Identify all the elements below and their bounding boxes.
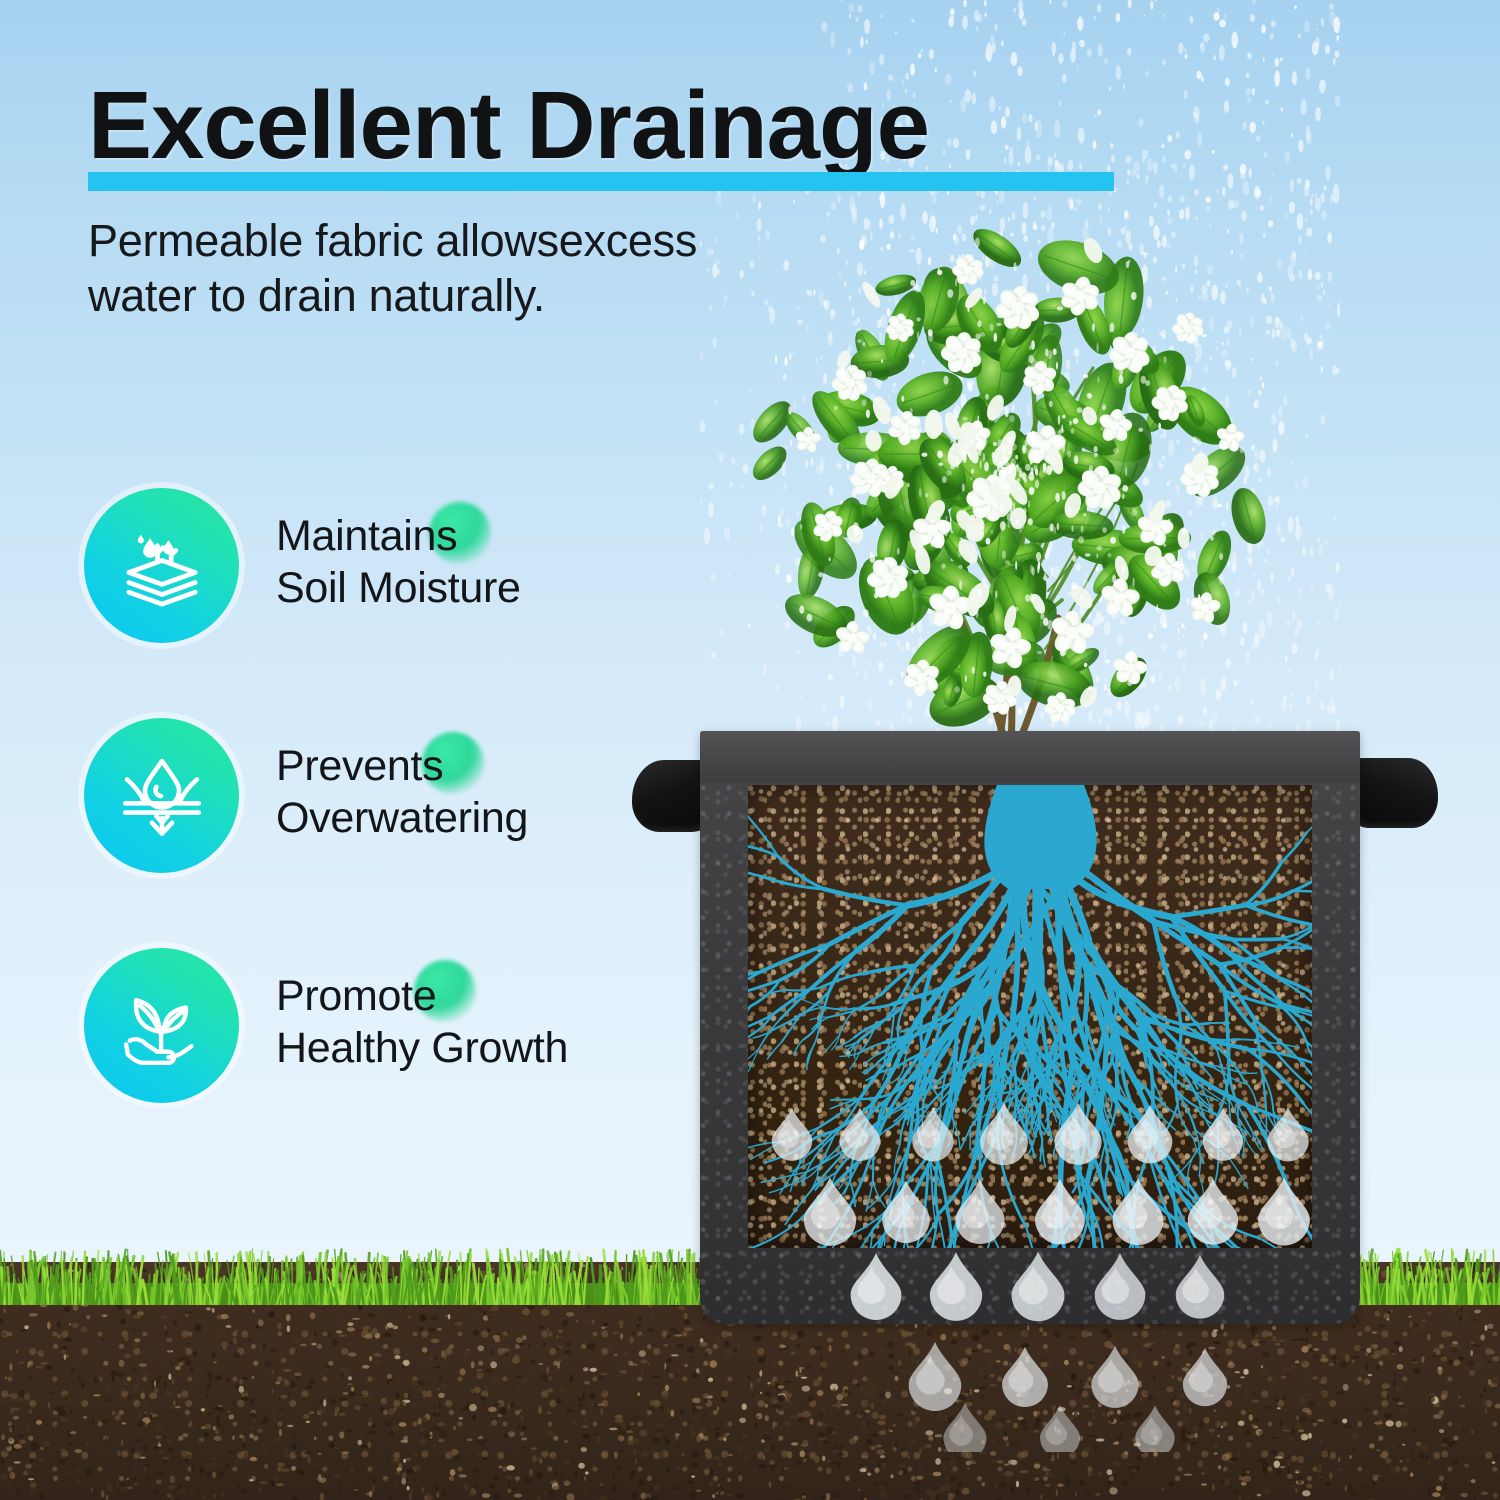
- feature-item-promote-healthy-growth: Promote Healthy Growth: [84, 948, 644, 1178]
- feature-label-line-2: Overwatering: [276, 792, 676, 844]
- feature-icon-circle: [84, 948, 239, 1103]
- fabric-grow-bag: [700, 731, 1360, 1324]
- infographic-canvas: Excellent Drainage Permeable fabric allo…: [0, 0, 1500, 1500]
- feature-icon-circle: [84, 488, 239, 643]
- hand-holding-sprout-icon: [116, 980, 208, 1072]
- feature-item-prevents-overwatering: Prevents Overwatering: [84, 718, 644, 948]
- water-droplets-in-bag: [748, 785, 1312, 1324]
- feature-label: Maintains Soil Moisture: [276, 510, 676, 615]
- feature-label: Prevents Overwatering: [276, 740, 676, 845]
- feature-list: Maintains Soil Moisture: [84, 488, 644, 1178]
- water-through-membrane-icon: [116, 750, 208, 842]
- bag-top-rim: [700, 731, 1360, 783]
- feature-item-maintains-soil-moisture: Maintains Soil Moisture: [84, 488, 644, 718]
- feature-label-line-2: Soil Moisture: [276, 562, 676, 614]
- feature-icon-circle: [84, 718, 239, 873]
- feature-label-line-2: Healthy Growth: [276, 1022, 676, 1074]
- water-droplets-in-ground: [0, 1322, 1500, 1452]
- title-underline-bar: [88, 172, 1114, 191]
- soil-moisture-layers-icon: [116, 520, 208, 612]
- subtitle-line-2: water to drain naturally.: [88, 268, 848, 323]
- page-subtitle: Permeable fabric allowsexcess water to d…: [88, 213, 848, 324]
- feature-label-line-1: Prevents: [276, 740, 676, 792]
- feature-label: Promote Healthy Growth: [276, 970, 676, 1075]
- subtitle-line-1: Permeable fabric allowsexcess: [88, 213, 848, 268]
- feature-label-line-1: Promote: [276, 970, 676, 1022]
- bag-handle-right: [1352, 758, 1438, 828]
- page-title: Excellent Drainage: [88, 78, 929, 174]
- feature-label-line-1: Maintains: [276, 510, 676, 562]
